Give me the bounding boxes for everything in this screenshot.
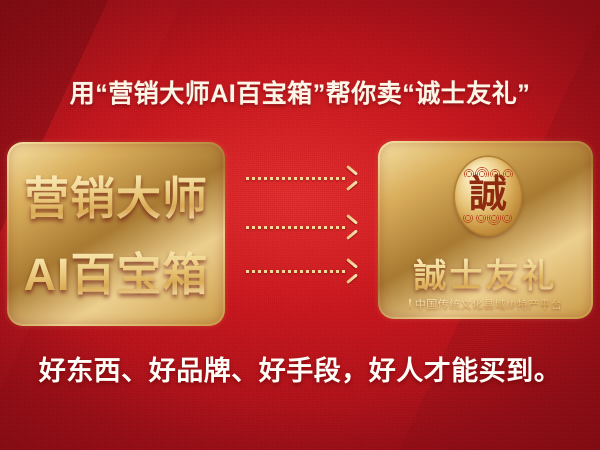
dotted-arrow-icon-2	[246, 223, 360, 231]
arrow-head	[344, 170, 356, 186]
brand-name: 誠士友礼	[378, 249, 593, 297]
tagline-divider-bar	[409, 299, 411, 310]
arrow-head	[344, 219, 356, 235]
dotted-arrow-icon-3	[246, 267, 360, 275]
poster-canvas: 用“营销大师AI百宝箱”帮你卖“诚士友礼” 营销大师 AI百宝箱 誠 誠士友礼 …	[0, 0, 600, 450]
arrow-dots	[246, 270, 346, 273]
arrow-dots	[246, 226, 346, 229]
arrow-head	[344, 263, 356, 279]
brand-tagline-row: 中国传统文化县域IP特产平台	[378, 296, 593, 312]
arrow-dots	[246, 177, 346, 180]
brand-tagline: 中国传统文化县域IP特产平台	[415, 296, 562, 312]
seal-character: 誠	[455, 176, 521, 214]
brand-seal-icon: 誠	[455, 157, 521, 235]
page-title: 用“营销大师AI百宝箱”帮你卖“诚士友礼”	[0, 74, 600, 110]
left-box-line-1: 营销大师	[7, 162, 225, 227]
dotted-arrow-icon-1	[246, 174, 360, 182]
footer-slogan: 好东西、好品牌、好手段，好人才能买到。	[0, 349, 600, 388]
left-box-line-2: AI百宝箱	[7, 238, 225, 303]
cloud-pattern-bottom-icon	[462, 215, 514, 232]
